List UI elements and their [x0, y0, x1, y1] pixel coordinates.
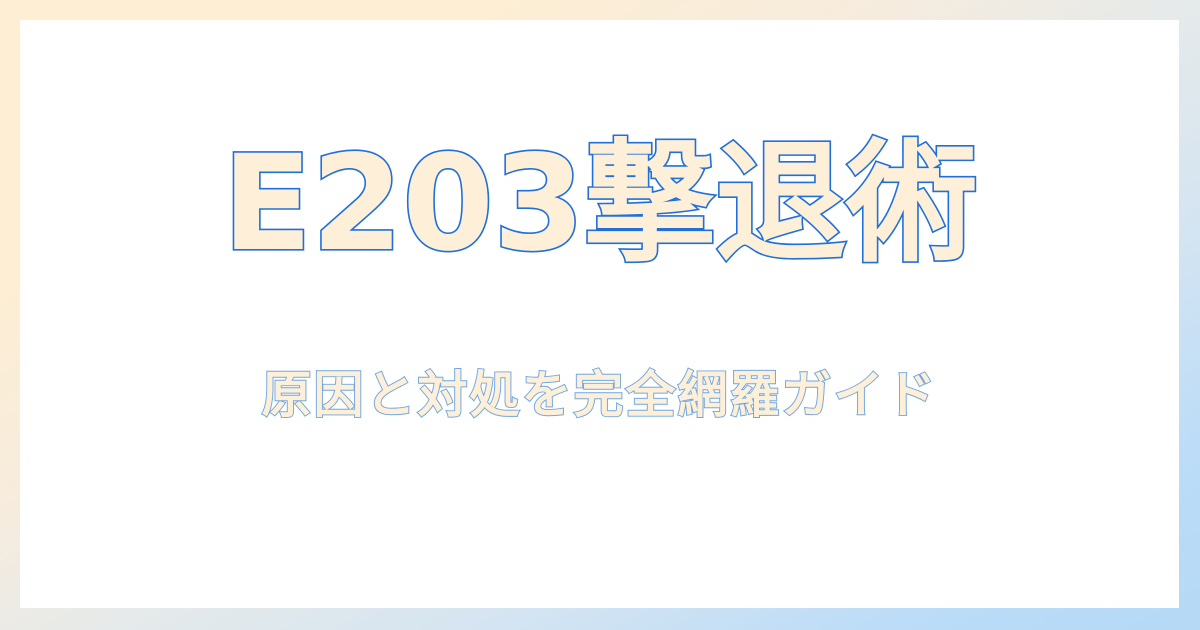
subtitle-container: 原因と対処を完全網羅ガイド — [20, 370, 1179, 420]
title-container: E203撃退術 — [20, 138, 1179, 270]
eyecatch-frame: E203撃退術 原因と対処を完全網羅ガイド — [0, 0, 1200, 630]
page-title: E203撃退術 — [222, 138, 977, 270]
page-subtitle: 原因と対処を完全網羅ガイド — [262, 370, 938, 420]
eyecatch-canvas: E203撃退術 原因と対処を完全網羅ガイド — [20, 20, 1179, 608]
